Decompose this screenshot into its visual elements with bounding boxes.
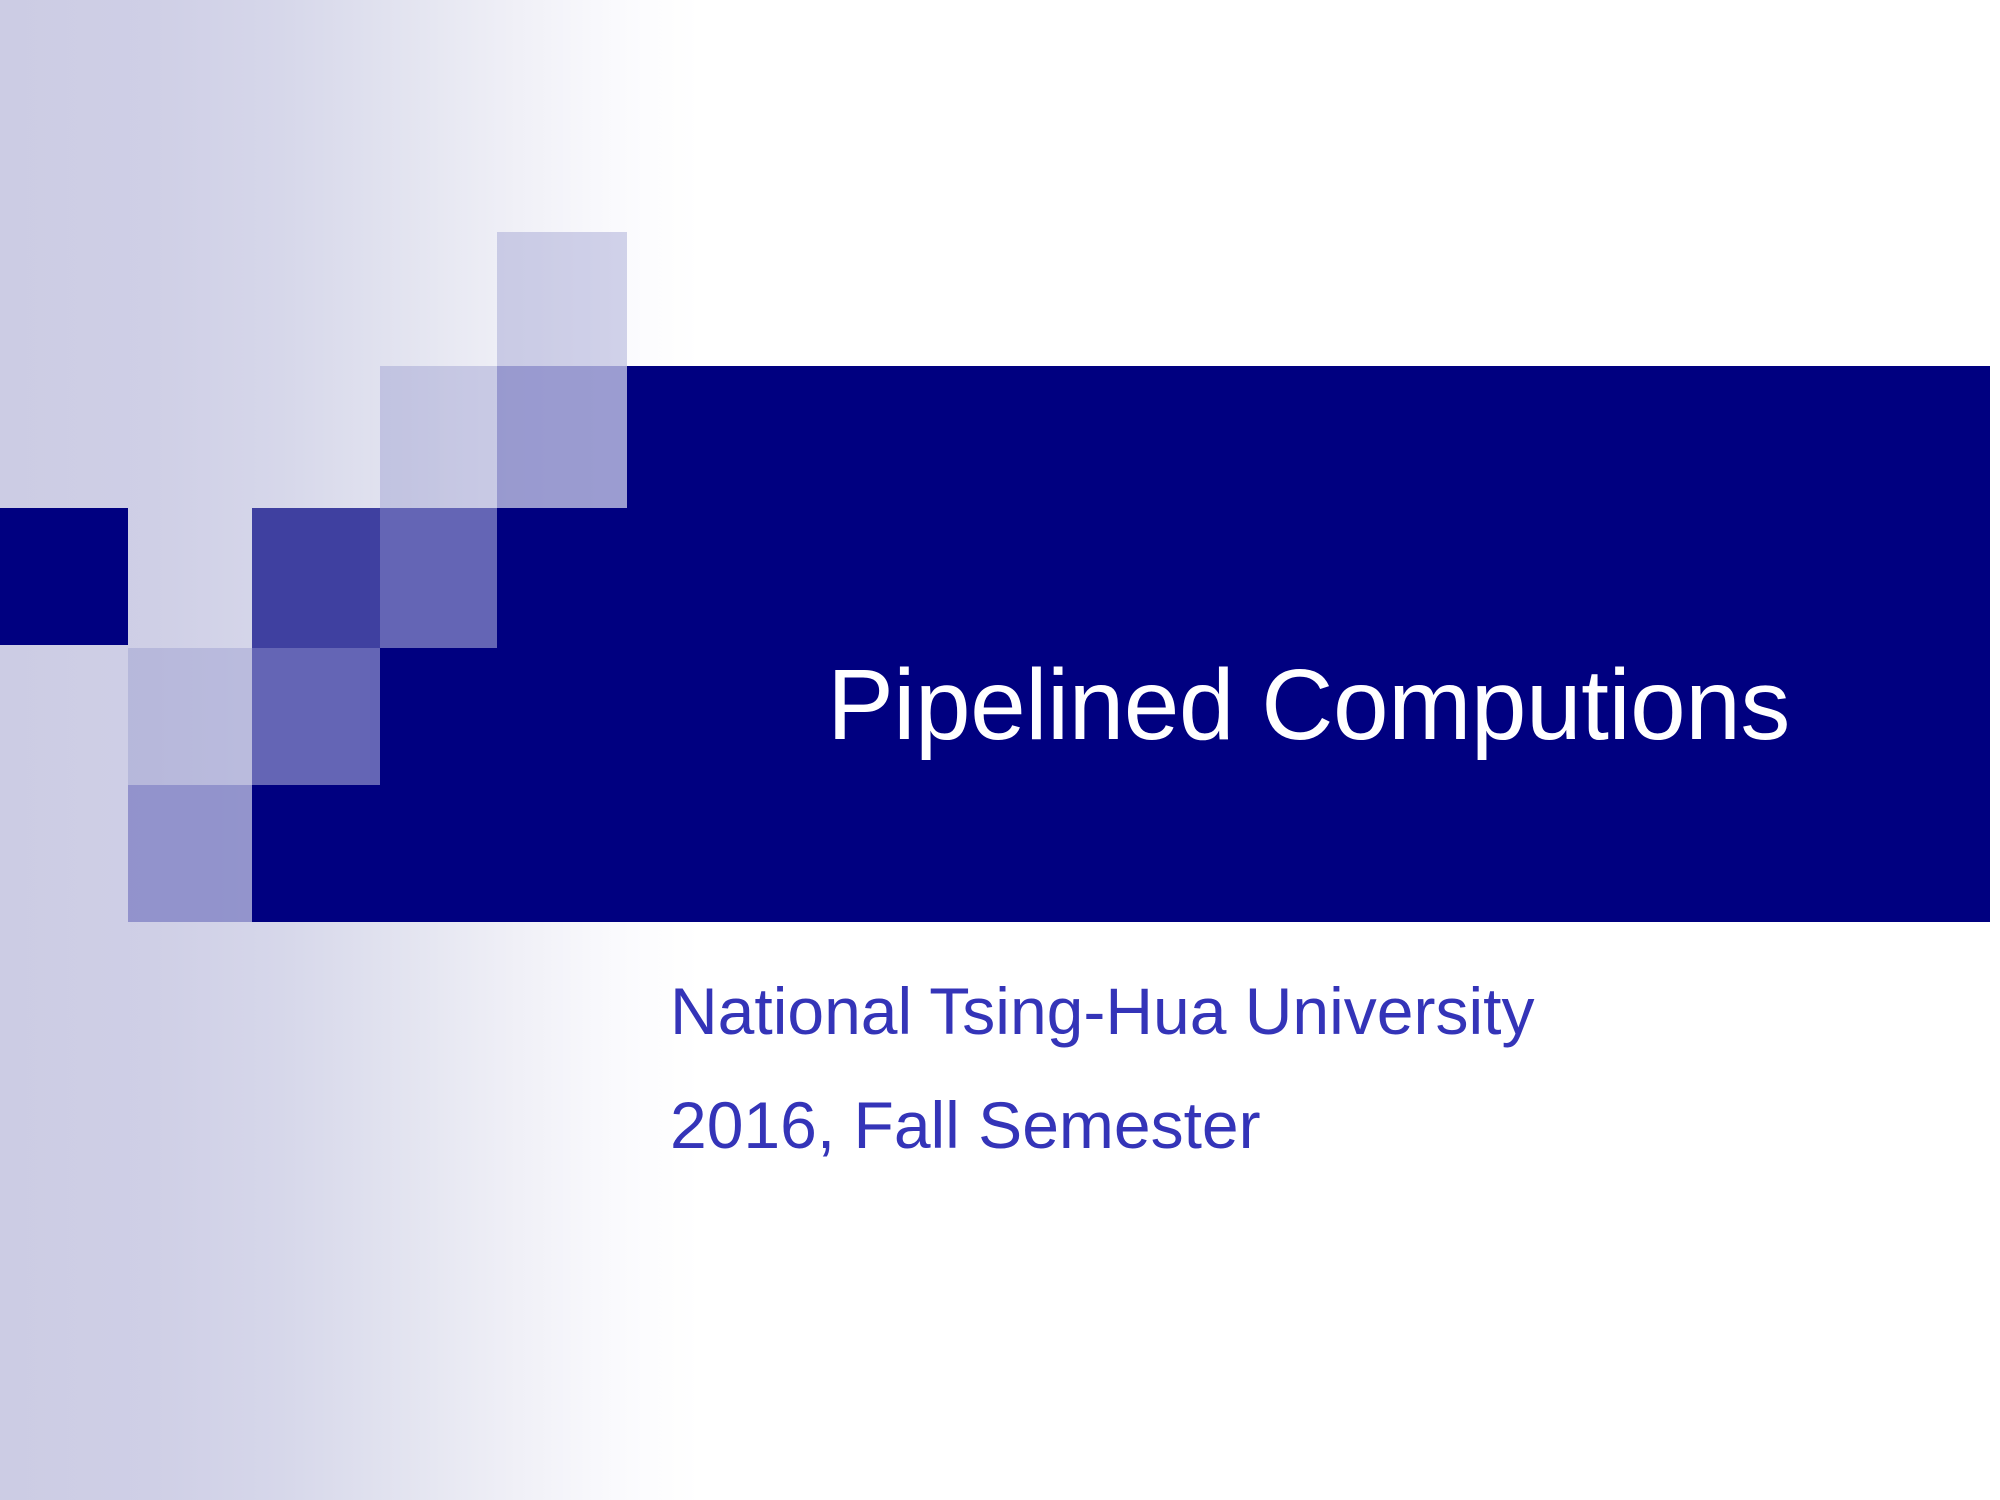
subtitle-line-semester: 2016, Fall Semester (670, 1069, 1920, 1183)
mosaic-tile-r2c2 (497, 366, 627, 508)
mosaic-tile-r4c1 (128, 648, 252, 785)
title-slide: Pipelined Computions National Tsing-Hua … (0, 0, 2000, 1500)
page-title: Pipelined Computions (627, 625, 1990, 785)
mosaic-tile-r5c1 (128, 785, 252, 922)
mosaic-tile-r3c1 (252, 508, 380, 648)
mosaic-tile-r3c2 (380, 508, 497, 648)
mosaic-tile-navy-left (0, 508, 128, 645)
mosaic-tile-top-right (497, 232, 627, 366)
mosaic-tile-r4c2 (252, 648, 380, 785)
subtitle-line-institution: National Tsing-Hua University (670, 955, 1920, 1069)
subtitle-block: National Tsing-Hua University 2016, Fall… (670, 955, 1920, 1182)
mosaic-tile-r2c1 (380, 366, 497, 508)
